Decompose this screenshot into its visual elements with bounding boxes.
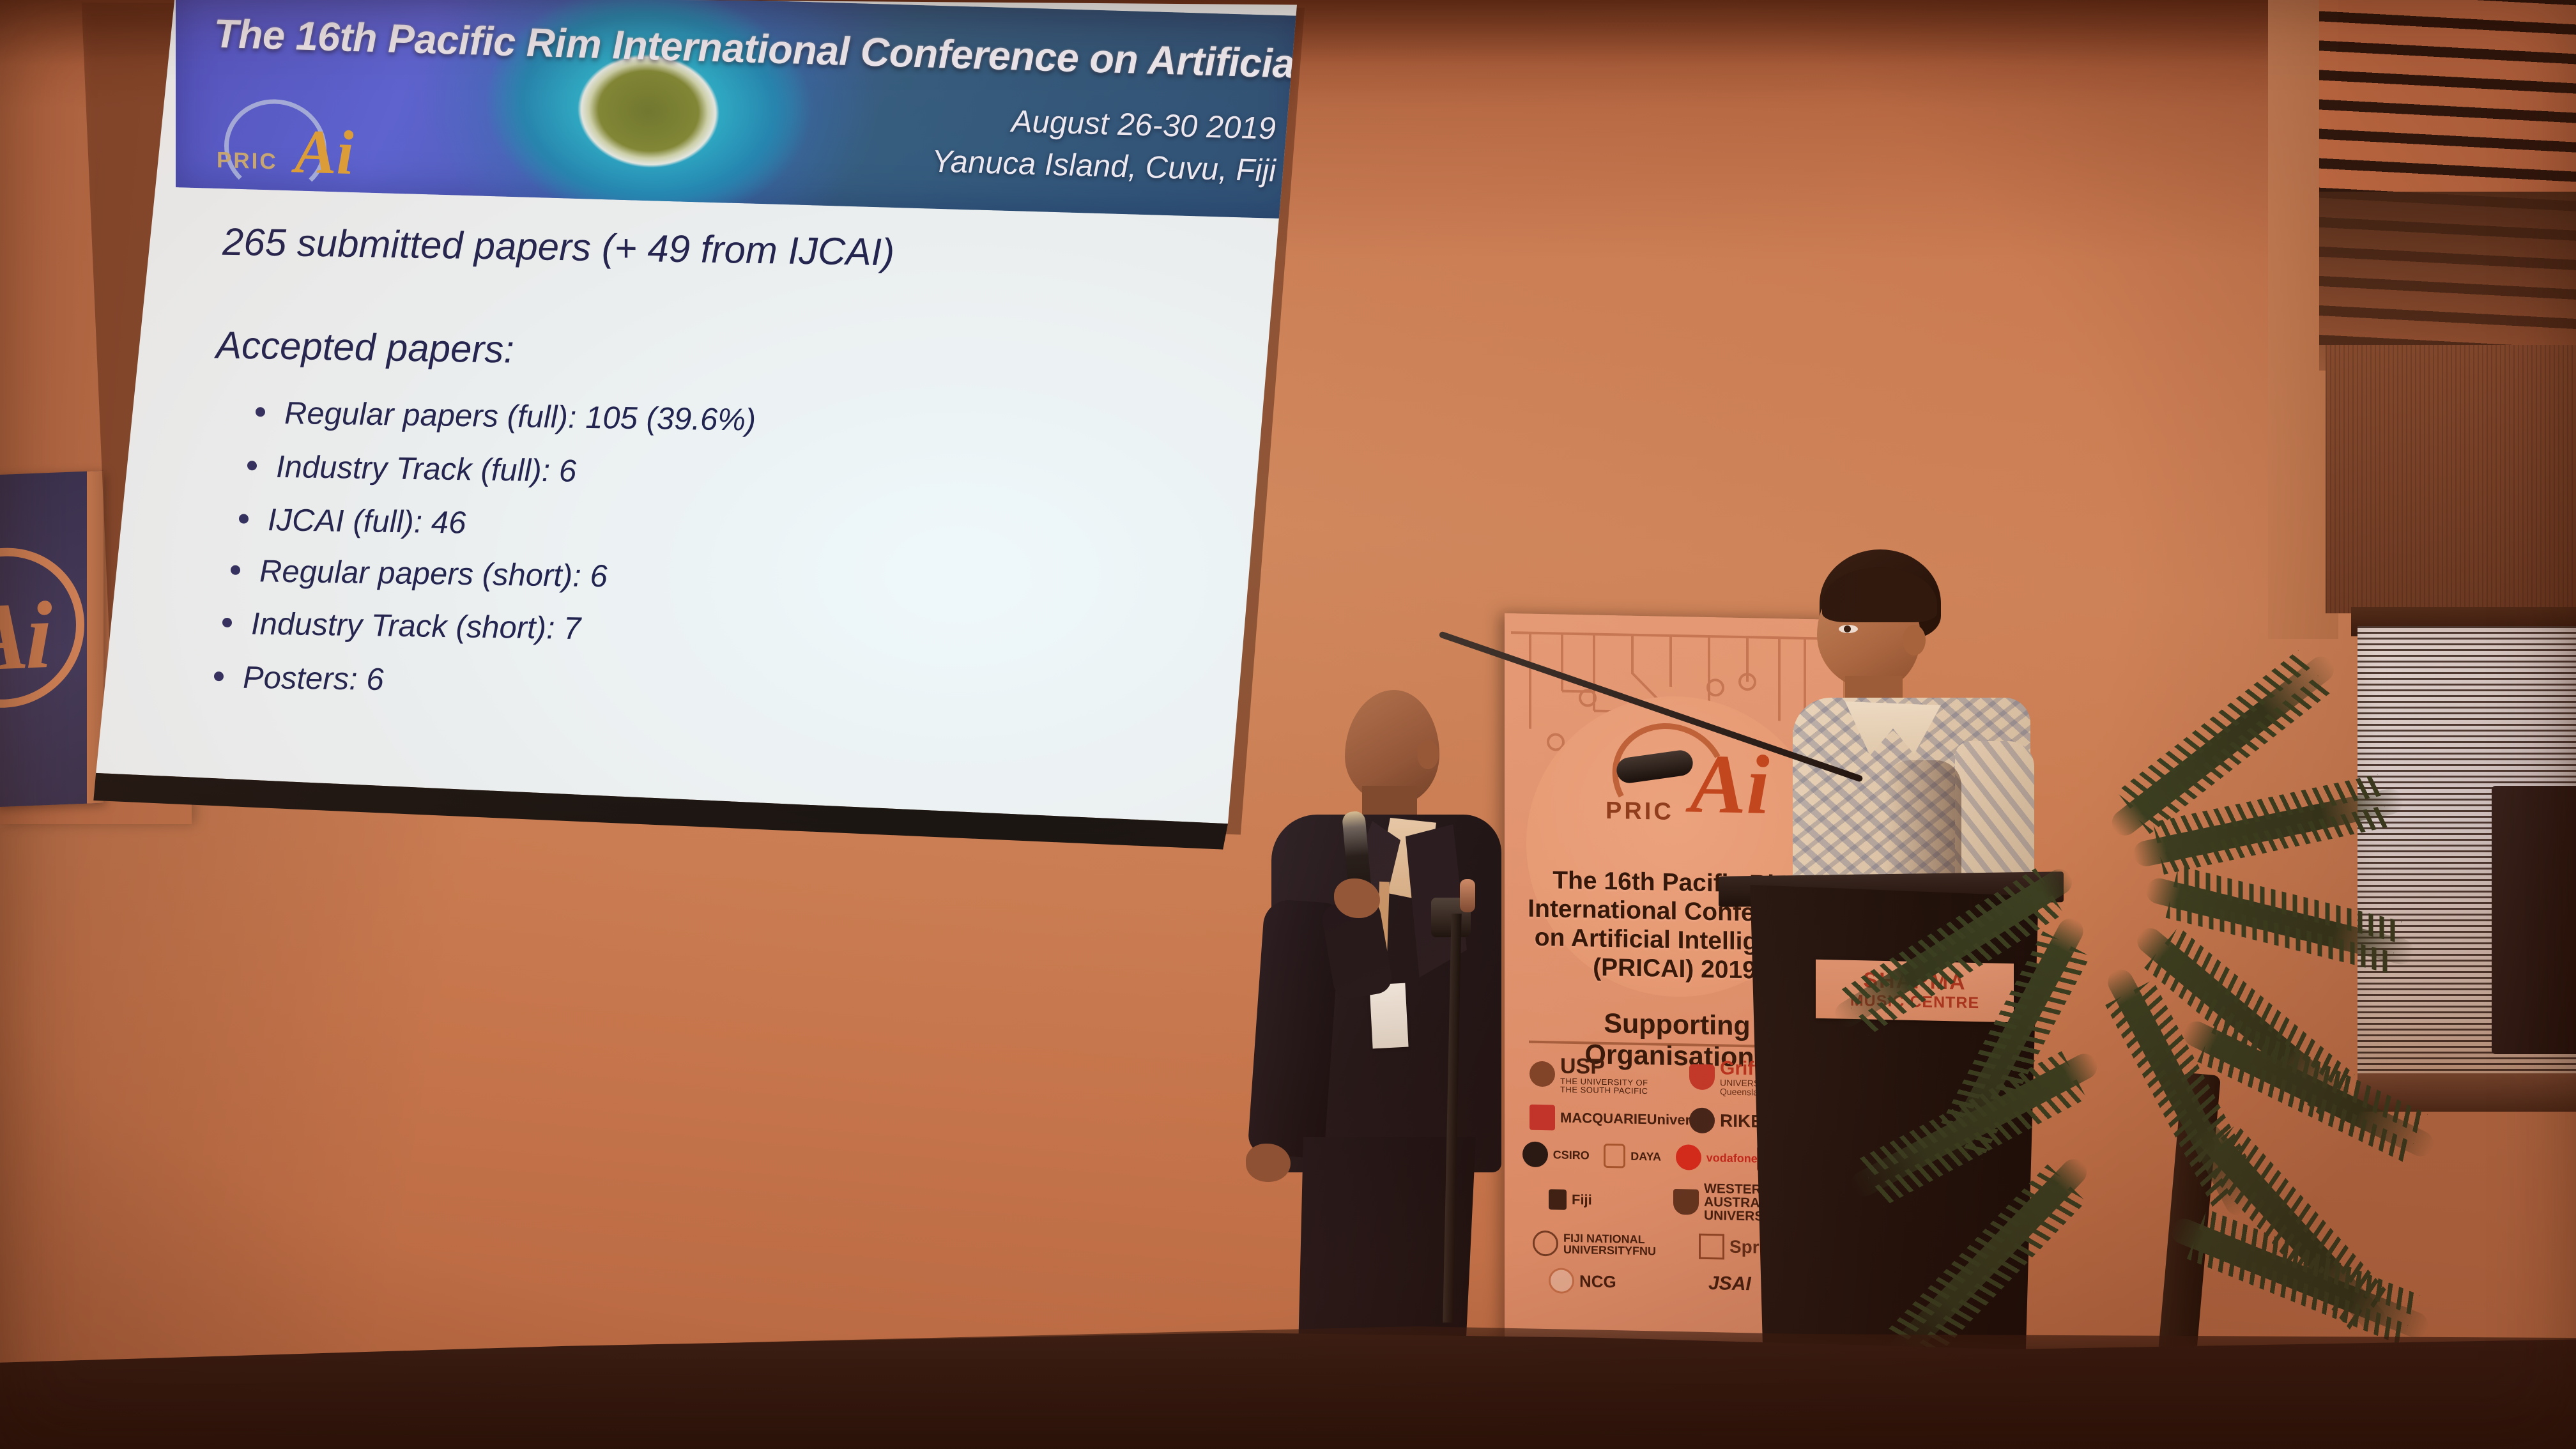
- bullet-dot-icon: [256, 407, 265, 417]
- ear: [1417, 740, 1439, 769]
- hand-left: [1246, 1144, 1291, 1182]
- sponsor-mark-icon: [1549, 1268, 1574, 1294]
- slide-subheading: Accepted papers:: [216, 323, 514, 371]
- slide-bullet-item: Regular papers (full): 105 (39.6%): [256, 395, 756, 438]
- sponsor-mark-icon: [1522, 1141, 1548, 1167]
- slide-body: 265 submitted papers (+ 49 from IJCAI) A…: [64, 207, 1297, 782]
- sponsor-name: NCG: [1579, 1273, 1616, 1290]
- sponsor-logo: MACQUARIEUniversity: [1529, 1105, 1664, 1133]
- slide-bullet-text: IJCAI (full): 46: [268, 503, 466, 540]
- slide-bullet-text: Industry Track (full): 6: [276, 450, 576, 489]
- bullet-dot-icon: [214, 671, 224, 681]
- sponsor-mark-icon: [1676, 1144, 1701, 1170]
- bullet-dot-icon: [247, 461, 257, 470]
- sponsor-name: Fiji: [1572, 1192, 1592, 1207]
- pricai-logo: PRIC Ai: [205, 93, 339, 187]
- sponsor-logo: CSIRO: [1522, 1141, 1593, 1168]
- slide-bullet-text: Industry Track (short): 7: [251, 607, 581, 647]
- projection-screen-area: The 16th Pacific Rim International Confe…: [64, 0, 1316, 865]
- pricai-logo-ai-text: Ai: [1690, 741, 1770, 827]
- sponsor-name: FIJI NATIONAL UNIVERSITYFNU: [1563, 1232, 1667, 1257]
- pricai-logo-pric-text: PRIC: [1606, 797, 1674, 826]
- conference-location: Yanuca Island, Cuvu, Fiji: [932, 144, 1276, 189]
- slide-bullet-text: Posters: 6: [243, 661, 384, 697]
- sponsor-name: DAYA: [1630, 1151, 1661, 1163]
- sponsor-logo: vodafone: [1676, 1144, 1746, 1171]
- wooden-wall-panel: [2326, 345, 2576, 613]
- slide-bullet-item: IJCAI (full): 46: [239, 502, 466, 540]
- boom-adjust-knob[interactable]: [1460, 879, 1475, 912]
- ear: [1903, 625, 1926, 655]
- projection-screen: The 16th Pacific Rim International Confe…: [64, 0, 1297, 855]
- slide-banner-header: The 16th Pacific Rim International Confe…: [176, 0, 1297, 219]
- sponsor-name: CSIRO: [1553, 1149, 1590, 1161]
- sponsor-logo: NCG: [1549, 1268, 1644, 1295]
- sponsor-name: JSAI: [1708, 1274, 1751, 1294]
- pricai-logo-ai-text: Ai: [295, 120, 354, 185]
- sponsor-mark-icon: [1689, 1064, 1715, 1090]
- sponsor-mark-icon: [1699, 1234, 1724, 1260]
- slide-bullet-item: Industry Track (short): 7: [222, 606, 581, 647]
- conference-dates: August 26-30 2019: [1011, 103, 1276, 147]
- slide-bullet-item: Industry Track (full): 6: [247, 448, 576, 489]
- wooden-slat-screen-shadow: [2319, 192, 2576, 371]
- eye: [1839, 625, 1858, 633]
- sponsor-subtitle: THE UNIVERSITY OF THE SOUTH PACIFIC: [1560, 1077, 1664, 1096]
- pa-speaker: [2492, 786, 2576, 1054]
- bullet-dot-icon: [222, 617, 232, 627]
- sponsor-mark-icon: [1529, 1061, 1555, 1087]
- sponsor-logo: USPTHE UNIVERSITY OF THE SOUTH PACIFIC: [1529, 1055, 1664, 1096]
- sponsor-mark-icon: [1673, 1188, 1699, 1215]
- slide-headline: 265 submitted papers (+ 49 from IJCAI): [222, 220, 894, 275]
- slide-bullet-text: Regular papers (full): 105 (39.6%): [284, 396, 756, 438]
- sponsor-mark-icon: [1533, 1230, 1558, 1257]
- sponsor-logo: DAYA: [1604, 1144, 1664, 1169]
- pricai-ai-logo-text: Ai: [0, 580, 49, 693]
- slide-bullet-item: Regular papers (short): 6: [231, 553, 608, 595]
- sponsor-mark-icon: [1549, 1189, 1567, 1210]
- sponsor-mark-icon: [1529, 1105, 1555, 1131]
- sponsor-logo: Fiji: [1549, 1189, 1609, 1211]
- pricai-logo-pric-text: PRIC: [217, 148, 278, 175]
- presentation-scene: Ai The 16th Pacific Rim International Co…: [0, 0, 2576, 1449]
- bullet-dot-icon: [239, 514, 249, 523]
- sponsor-subtitle: FNU: [1632, 1245, 1656, 1258]
- slide-bullet-text: Regular papers (short): 6: [259, 554, 608, 594]
- bullet-dot-icon: [231, 565, 240, 574]
- slide-bullet-item: Posters: 6: [214, 659, 384, 698]
- sponsor-mark-icon: [1604, 1144, 1625, 1169]
- sponsor-logo: FIJI NATIONAL UNIVERSITYFNU: [1533, 1230, 1667, 1259]
- sponsor-mark-icon: [1689, 1107, 1715, 1133]
- presentation-slide: The 16th Pacific Rim International Confe…: [64, 0, 1297, 820]
- sponsor-name: USPTHE UNIVERSITY OF THE SOUTH PACIFIC: [1560, 1055, 1664, 1096]
- sponsor-name: vodafone: [1706, 1152, 1758, 1165]
